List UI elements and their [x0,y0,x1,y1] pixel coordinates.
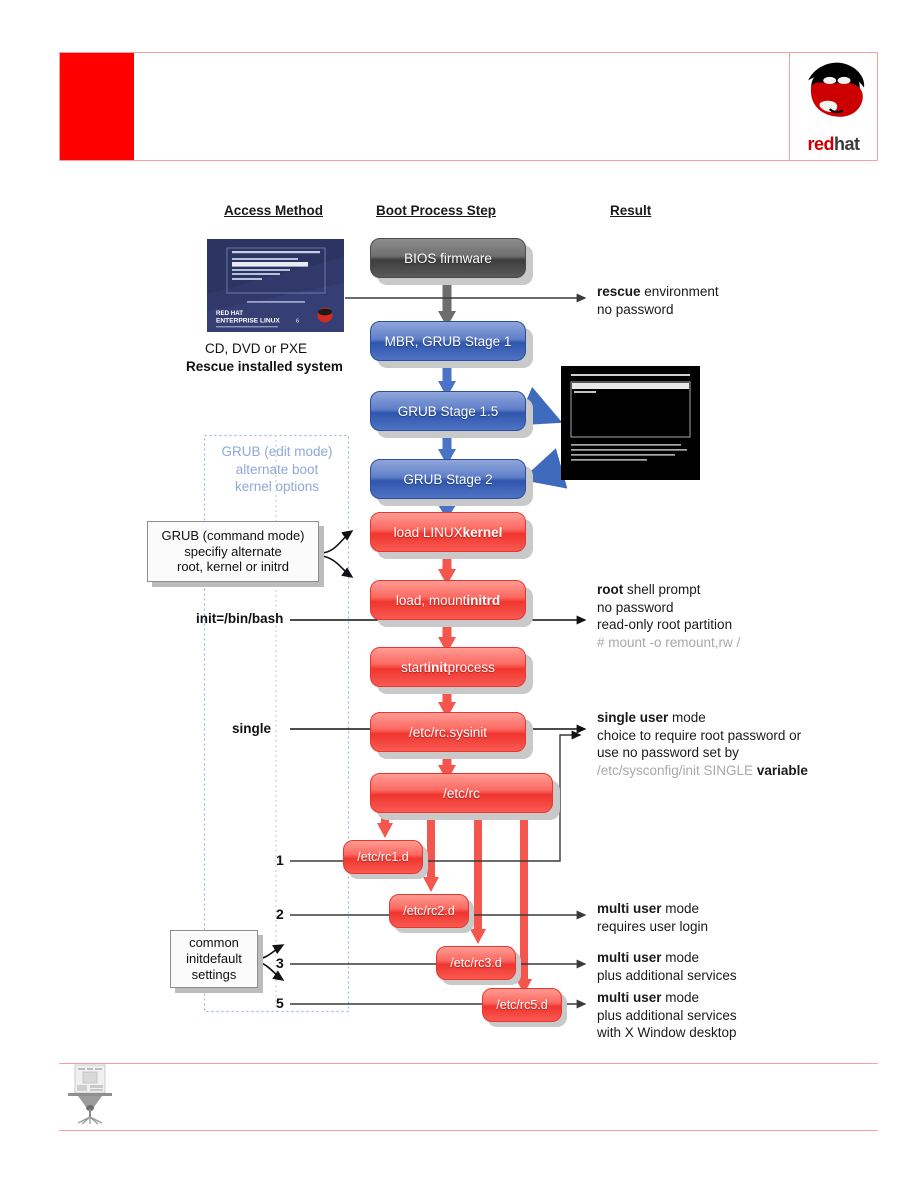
grub-boot-menu-screenshot [561,366,700,480]
node-etc-rc[interactable]: /etc/rc [370,773,553,813]
result-multi2-line2: requires user login [597,919,708,934]
result-multi-user-2: multi user mode requires user login [597,900,708,935]
node-etc-rc2-d[interactable]: /etc/rc2.d [389,894,469,928]
result-rescue: rescue environment no password [597,283,719,318]
common-line2: initdefault [186,951,242,967]
initrd-label-bold: initrd [466,593,500,608]
result-multi3-bold: multi user [597,950,662,965]
result-multi5-line2: plus additional services [597,1008,737,1023]
node-start-init-process[interactable]: start init process [370,647,526,687]
media-caption-line2: Rescue installed system [186,359,343,374]
footer-rule-bottom [59,1130,878,1131]
boot-process-diagram: Access Method Boot Process Step Result [0,0,918,1188]
result-root-line3: read-only root partition [597,617,732,632]
result-multi2-rest: mode [662,901,700,916]
grub-cmd-line1: GRUB (command mode) [161,528,304,544]
common-initdefault-box: common initdefault settings [170,930,258,988]
init-label-bold: init [427,660,447,675]
init-bash-label: init=/bin/bash [196,611,283,626]
node-etc-rc-sysinit[interactable]: /etc/rc.sysinit [370,712,526,752]
result-single-line4: /etc/sysconfig/init SINGLE variable [597,763,808,778]
node-load-linux-kernel[interactable]: load LINUX kernel [370,512,526,552]
result-single-line4-dim: /etc/sysconfig/init SINGLE [597,763,757,778]
common-line1: common [189,935,239,951]
node-grub-stage-1-5[interactable]: GRUB Stage 1.5 [370,391,526,431]
result-single-user: single user mode choice to require root … [597,709,808,779]
result-single-bold: single user [597,710,668,725]
result-rescue-bold: rescue [597,284,641,299]
kernel-label-bold: kernel [463,525,503,540]
svg-text:RED HAT: RED HAT [216,310,243,317]
result-multi5-line3: with X Window desktop [597,1025,737,1040]
result-single-line4-bold: variable [757,763,808,778]
kernel-label-plain: load LINUX [394,525,463,540]
page: redhat Access Method Boot Process Step R… [0,0,918,1188]
node-load-mount-initrd[interactable]: load, mount initrd [370,580,526,620]
rhel-installer-splash-screenshot: RED HAT ENTERPRISE LINUX 6 [207,239,344,332]
column-header-access-method: Access Method [224,203,323,218]
svg-text:ENTERPRISE LINUX: ENTERPRISE LINUX [216,318,280,325]
grub-edit-line1: GRUB (edit mode) [221,444,332,459]
runlevel-2-label: 2 [276,906,284,922]
result-root-line4: # mount -o remount,rw / [597,635,740,650]
node-mbr-grub-stage-1[interactable]: MBR, GRUB Stage 1 [370,321,526,361]
result-multi3-line2: plus additional services [597,968,737,983]
node-etc-rc5-d[interactable]: /etc/rc5.d [482,988,562,1022]
node-bios-firmware[interactable]: BIOS firmware [370,238,526,278]
initrd-label-plain: load, mount [396,593,467,608]
result-root-rest: shell prompt [623,582,700,597]
result-multi5-rest: mode [662,990,700,1005]
media-caption-line1: CD, DVD or PXE [205,341,307,356]
footer-rule-top [59,1063,878,1064]
result-multi-user-3: multi user mode plus additional services [597,949,737,984]
grub-command-mode-box: GRUB (command mode) specifiy alternate r… [147,521,319,582]
result-root-bold: root [597,582,623,597]
column-header-result: Result [610,203,651,218]
grub-edit-line2: alternate boot [236,462,319,477]
node-grub-stage-2[interactable]: GRUB Stage 2 [370,459,526,499]
init-label-plain-b: process [448,660,495,675]
result-root-shell: root shell prompt no password read-only … [597,581,740,651]
grub-edit-mode-note: GRUB (edit mode) alternate boot kernel o… [213,443,341,496]
result-multi2-bold: multi user [597,901,662,916]
svg-text:6: 6 [296,319,299,325]
result-rescue-rest: environment [641,284,719,299]
result-single-line2: choice to require root password or [597,728,801,743]
runlevel-3-label: 3 [276,955,284,971]
result-single-rest: mode [668,710,706,725]
column-header-boot-process-step: Boot Process Step [376,203,496,218]
common-line3: settings [192,967,237,983]
grub-edit-line3: kernel options [235,479,319,494]
result-multi-user-5: multi user mode plus additional services… [597,989,737,1042]
node-etc-rc1-d[interactable]: /etc/rc1.d [343,840,423,874]
runlevel-1-label: 1 [276,852,284,868]
result-root-line2: no password [597,600,674,615]
init-label-plain-a: start [401,660,427,675]
result-multi5-bold: multi user [597,990,662,1005]
single-label: single [232,721,271,736]
result-multi3-rest: mode [662,950,700,965]
workstation-icon [64,1063,116,1125]
node-etc-rc3-d[interactable]: /etc/rc3.d [436,946,516,980]
result-single-line3: use no password set by [597,745,739,760]
grub-cmd-line2: specifiy alternate [184,544,282,560]
runlevel-5-label: 5 [276,995,284,1011]
grub-cmd-line3: root, kernel or initrd [177,559,289,575]
result-rescue-line2: no password [597,302,674,317]
